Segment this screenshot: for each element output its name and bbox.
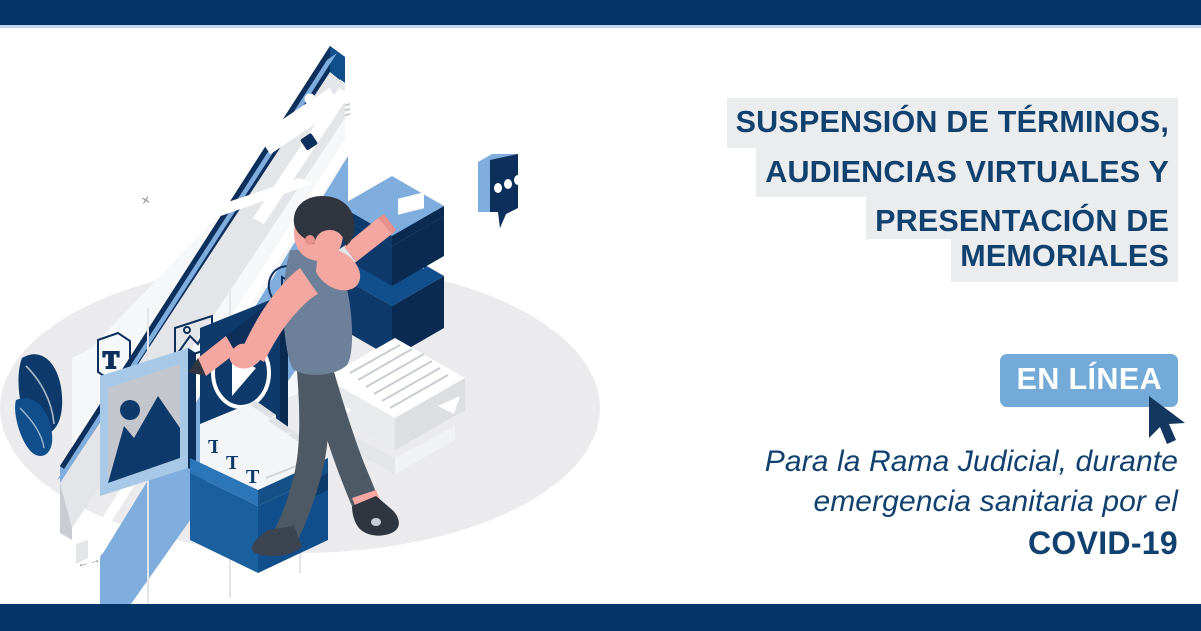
- headline-row-1: SUSPENSIÓN DE TÉRMINOS,: [618, 98, 1178, 148]
- svg-text:T: T: [103, 348, 119, 374]
- headline-line-1: SUSPENSIÓN DE TÉRMINOS,: [727, 98, 1178, 148]
- headline-line-4: MEMORIALES: [951, 239, 1178, 283]
- headline-row-2: AUDIENCIAS VIRTUALES Y: [618, 148, 1178, 198]
- svg-text:T: T: [226, 452, 240, 474]
- subtitle-emphasis: COVID-19: [618, 523, 1178, 564]
- cta-wrapper: EN LÍNEA: [1000, 354, 1178, 407]
- bottom-bar: [0, 604, 1201, 631]
- subtitle-line-2: emergencia sanitaria por el: [618, 482, 1178, 522]
- text-panel: SUSPENSIÓN DE TÉRMINOS, AUDIENCIAS VIRTU…: [596, 28, 1201, 604]
- headline-line-3: PRESENTACIÓN DE: [866, 197, 1178, 239]
- tab-close-icon: ✕: [140, 194, 152, 208]
- subtitle-line-1: Para la Rama Judicial, durante: [618, 442, 1178, 482]
- illustration-stage: ✕ ←→⟳: [0, 28, 600, 604]
- headline-row-3: PRESENTACIÓN DE: [618, 197, 1178, 239]
- top-bar: [0, 0, 1201, 25]
- headline-line-2: AUDIENCIAS VIRTUALES Y: [756, 148, 1178, 198]
- headline-block: SUSPENSIÓN DE TÉRMINOS, AUDIENCIAS VIRTU…: [618, 98, 1178, 282]
- mouse-cursor-icon: [1147, 396, 1191, 446]
- subtitle-block: Para la Rama Judicial, durante emergenci…: [618, 442, 1178, 564]
- svg-text:T: T: [246, 466, 260, 488]
- poster-root: ✕ ←→⟳: [0, 0, 1201, 631]
- headline-row-4: MEMORIALES: [618, 239, 1178, 283]
